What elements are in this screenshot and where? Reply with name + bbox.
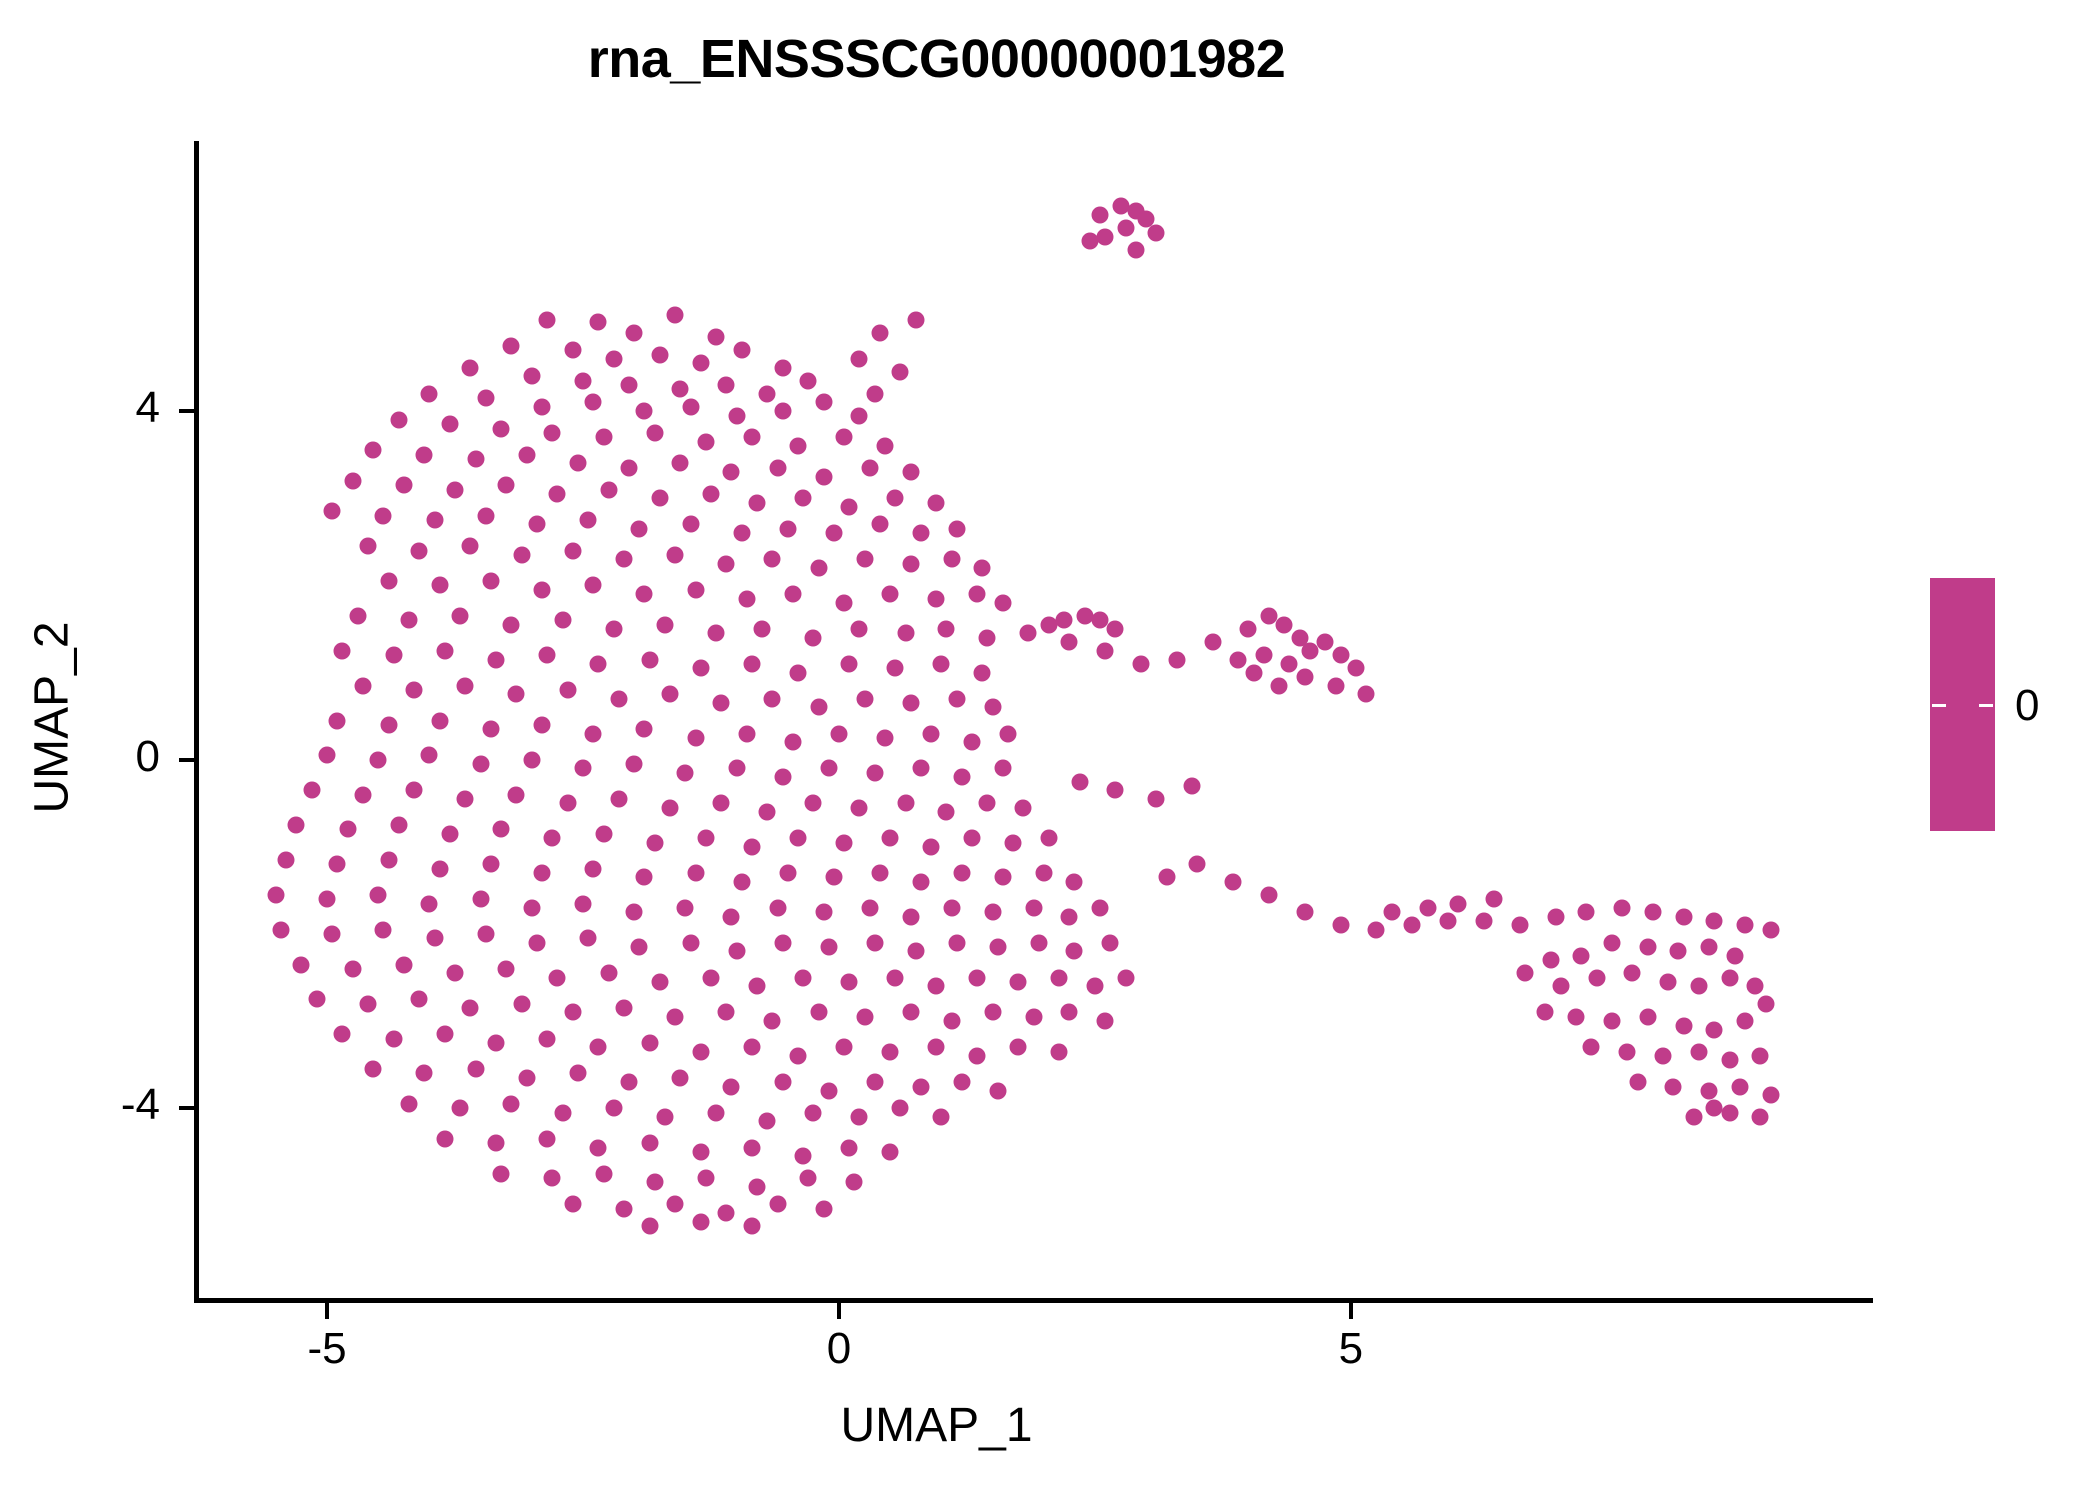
scatter-point — [697, 830, 714, 847]
scatter-point — [692, 1213, 709, 1230]
scatter-point — [851, 1109, 868, 1126]
scatter-point — [1260, 886, 1277, 903]
scatter-point — [800, 372, 817, 389]
scatter-point — [1240, 621, 1257, 638]
scatter-point — [503, 616, 520, 633]
scatter-point — [615, 1200, 632, 1217]
scatter-point — [595, 1165, 612, 1182]
scatter-point — [836, 1039, 853, 1056]
scatter-point — [682, 516, 699, 533]
scatter-point — [687, 581, 704, 598]
scatter-point — [697, 433, 714, 450]
scatter-point — [267, 886, 284, 903]
y-tick-label: -4 — [40, 1080, 160, 1130]
scatter-point — [999, 725, 1016, 742]
scatter-point — [1189, 856, 1206, 873]
scatter-point — [380, 573, 397, 590]
scatter-point — [774, 934, 791, 951]
scatter-point — [1511, 917, 1528, 934]
colorbar-tick-left — [1932, 704, 1946, 707]
scatter-point — [933, 1109, 950, 1126]
scatter-point — [590, 655, 607, 672]
scatter-point — [651, 346, 668, 363]
scatter-point — [810, 699, 827, 716]
scatter-point — [431, 577, 448, 594]
scatter-point — [1097, 1013, 1114, 1030]
scatter-point — [708, 625, 725, 642]
scatter-point — [1005, 834, 1022, 851]
scatter-point — [851, 407, 868, 424]
scatter-point — [1419, 899, 1436, 916]
scatter-point — [360, 538, 377, 555]
scatter-point — [667, 307, 684, 324]
scatter-point — [892, 1100, 909, 1117]
scatter-point — [974, 560, 991, 577]
scatter-point — [431, 860, 448, 877]
scatter-point — [569, 1065, 586, 1082]
scatter-point — [482, 573, 499, 590]
scatter-point — [815, 904, 832, 921]
scatter-point — [472, 891, 489, 908]
scatter-point — [866, 934, 883, 951]
scatter-point — [1025, 899, 1042, 916]
scatter-point — [334, 1026, 351, 1043]
scatter-point — [452, 607, 469, 624]
scatter-point — [462, 359, 479, 376]
page-title: rna_ENSSSCG00000001982 — [0, 28, 1873, 90]
scatter-point — [493, 420, 510, 437]
scatter-point — [406, 682, 423, 699]
scatter-point — [1230, 651, 1247, 668]
scatter-point — [984, 699, 1001, 716]
scatter-point — [948, 690, 965, 707]
scatter-point — [605, 350, 622, 367]
scatter-point — [662, 686, 679, 703]
scatter-point — [447, 965, 464, 982]
scatter-point — [795, 490, 812, 507]
scatter-point — [866, 764, 883, 781]
scatter-point — [503, 1095, 520, 1112]
scatter-point — [1726, 947, 1743, 964]
scatter-point — [1107, 621, 1124, 638]
scatter-point — [656, 1109, 673, 1126]
scatter-point — [1614, 899, 1631, 916]
scatter-point — [861, 899, 878, 916]
scatter-point — [866, 1074, 883, 1091]
scatter-point — [1383, 904, 1400, 921]
scatter-point — [390, 411, 407, 428]
x-tick-label: -5 — [267, 1324, 387, 1374]
scatter-point — [928, 590, 945, 607]
x-tick-mark — [325, 1303, 329, 1319]
scatter-point — [830, 725, 847, 742]
scatter-point — [1568, 1008, 1585, 1025]
scatter-point — [1184, 777, 1201, 794]
scatter-point — [1440, 912, 1457, 929]
scatter-point — [810, 560, 827, 577]
scatter-point — [1117, 220, 1134, 237]
scatter-point — [539, 311, 556, 328]
scatter-point — [1127, 241, 1144, 258]
scatter-point — [303, 782, 320, 799]
y-tick-mark — [179, 409, 194, 413]
scatter-point — [790, 830, 807, 847]
scatter-point — [600, 965, 617, 982]
scatter-point — [1675, 908, 1692, 925]
scatter-point — [590, 1139, 607, 1156]
scatter-point — [887, 660, 904, 677]
scatter-point — [1086, 978, 1103, 995]
scatter-point — [856, 1008, 873, 1025]
scatter-point — [651, 973, 668, 990]
scatter-point — [1721, 1052, 1738, 1069]
scatter-point — [902, 695, 919, 712]
scatter-point — [1117, 969, 1134, 986]
scatter-point — [912, 1078, 929, 1095]
scatter-point — [964, 734, 981, 751]
scatter-point — [467, 1061, 484, 1078]
scatter-point — [856, 690, 873, 707]
scatter-point — [805, 795, 822, 812]
scatter-point — [1721, 1104, 1738, 1121]
scatter-point — [728, 943, 745, 960]
scatter-point — [621, 1074, 638, 1091]
scatter-point — [554, 612, 571, 629]
scatter-point — [759, 804, 776, 821]
scatter-point — [641, 1034, 658, 1051]
scatter-point — [790, 1048, 807, 1065]
scatter-point — [795, 1148, 812, 1165]
scatter-point — [902, 464, 919, 481]
scatter-point — [580, 512, 597, 529]
scatter-point — [539, 1030, 556, 1047]
scatter-point — [523, 899, 540, 916]
scatter-point — [554, 1104, 571, 1121]
y-tick-mark — [179, 758, 194, 762]
scatter-point — [989, 1082, 1006, 1099]
scatter-point — [754, 621, 771, 638]
scatter-point — [836, 594, 853, 611]
scatter-point — [1102, 934, 1119, 951]
scatter-point — [841, 499, 858, 516]
scatter-point — [631, 939, 648, 956]
scatter-point — [411, 542, 428, 559]
scatter-point — [1097, 228, 1114, 245]
scatter-point — [969, 969, 986, 986]
scatter-point — [692, 660, 709, 677]
scatter-point — [820, 1082, 837, 1099]
scatter-point — [1015, 799, 1032, 816]
scatter-point — [943, 1013, 960, 1030]
legend-colorbar: 0 — [1930, 578, 2090, 898]
scatter-point — [1573, 947, 1590, 964]
scatter-point — [759, 1113, 776, 1130]
scatter-point — [774, 403, 791, 420]
scatter-point — [764, 551, 781, 568]
scatter-point — [575, 760, 592, 777]
scatter-point — [1583, 1039, 1600, 1056]
scatter-point — [324, 503, 341, 520]
scatter-point — [672, 455, 689, 472]
scatter-point — [1588, 969, 1605, 986]
scatter-point — [989, 939, 1006, 956]
scatter-point — [416, 446, 433, 463]
scatter-point — [784, 586, 801, 603]
scatter-point — [672, 1069, 689, 1086]
scatter-point — [1148, 790, 1165, 807]
scatter-point — [329, 712, 346, 729]
scatter-point — [907, 311, 924, 328]
scatter-point — [882, 586, 899, 603]
scatter-point — [882, 830, 899, 847]
scatter-point — [534, 398, 551, 415]
chart-root: rna_ENSSSCG00000001982 -404 -505 UMAP_1 … — [0, 0, 2100, 1500]
scatter-point — [641, 651, 658, 668]
scatter-point — [1731, 1078, 1748, 1095]
scatter-point — [703, 969, 720, 986]
scatter-point — [743, 838, 760, 855]
scatter-point — [651, 490, 668, 507]
scatter-point — [334, 642, 351, 659]
scatter-point — [769, 459, 786, 476]
scatter-point — [523, 751, 540, 768]
scatter-point — [882, 1143, 899, 1160]
scatter-point — [385, 1030, 402, 1047]
scatter-point — [646, 1174, 663, 1191]
scatter-point — [887, 490, 904, 507]
scatter-point — [1690, 1043, 1707, 1060]
scatter-point — [549, 485, 566, 502]
scatter-point — [882, 1043, 899, 1060]
scatter-point — [805, 629, 822, 646]
scatter-point — [580, 930, 597, 947]
scatter-point — [743, 1139, 760, 1156]
scatter-point — [585, 725, 602, 742]
scatter-point — [1537, 1004, 1554, 1021]
scatter-point — [877, 438, 894, 455]
scatter-point — [871, 324, 888, 341]
scatter-point — [708, 329, 725, 346]
scatter-point — [1624, 965, 1641, 982]
scatter-point — [1332, 647, 1349, 664]
scatter-point — [498, 960, 515, 977]
scatter-point — [1685, 1109, 1702, 1126]
scatter-point — [1639, 939, 1656, 956]
scatter-point — [1670, 943, 1687, 960]
scatter-point — [426, 512, 443, 529]
scatter-point — [1092, 899, 1109, 916]
scatter-point — [641, 1135, 658, 1152]
scatter-point — [779, 865, 796, 882]
scatter-point — [380, 716, 397, 733]
scatter-point — [631, 520, 648, 537]
scatter-point — [641, 1217, 658, 1234]
scatter-point — [1752, 1048, 1769, 1065]
scatter-point — [1260, 607, 1277, 624]
colorbar-label: 0 — [2015, 681, 2039, 731]
scatter-point — [385, 647, 402, 664]
scatter-point — [943, 551, 960, 568]
scatter-point — [585, 577, 602, 594]
scatter-point — [457, 790, 474, 807]
scatter-point — [810, 1004, 827, 1021]
scatter-points-layer — [194, 141, 1873, 1300]
scatter-point — [677, 899, 694, 916]
scatter-point — [293, 956, 310, 973]
scatter-point — [1112, 198, 1129, 215]
scatter-point — [708, 1104, 725, 1121]
scatter-point — [825, 869, 842, 886]
scatter-point — [344, 960, 361, 977]
scatter-point — [646, 424, 663, 441]
scatter-point — [370, 751, 387, 768]
scatter-point — [1347, 660, 1364, 677]
scatter-point — [534, 581, 551, 598]
scatter-point — [559, 795, 576, 812]
scatter-point — [713, 795, 730, 812]
scatter-point — [518, 1069, 535, 1086]
scatter-point — [421, 385, 438, 402]
scatter-point — [846, 1174, 863, 1191]
scatter-point — [723, 1078, 740, 1095]
scatter-point — [395, 477, 412, 494]
scatter-point — [564, 542, 581, 559]
scatter-point — [528, 516, 545, 533]
scatter-point — [324, 926, 341, 943]
scatter-point — [1276, 616, 1293, 633]
scatter-point — [877, 729, 894, 746]
scatter-point — [1066, 873, 1083, 890]
scatter-point — [590, 1039, 607, 1056]
scatter-point — [672, 381, 689, 398]
scatter-point — [1296, 668, 1313, 685]
scatter-point — [636, 869, 653, 886]
scatter-point — [1660, 973, 1677, 990]
scatter-point — [1281, 655, 1298, 672]
scatter-point — [575, 372, 592, 389]
scatter-point — [477, 926, 494, 943]
scatter-point — [851, 350, 868, 367]
scatter-point — [703, 485, 720, 502]
scatter-point — [1603, 1013, 1620, 1030]
scatter-point — [1076, 607, 1093, 624]
scatter-point — [600, 481, 617, 498]
scatter-point — [718, 1004, 735, 1021]
scatter-point — [667, 1196, 684, 1213]
scatter-point — [1040, 830, 1057, 847]
scatter-point — [621, 459, 638, 476]
scatter-point — [1035, 865, 1052, 882]
scatter-point — [887, 969, 904, 986]
scatter-point — [1158, 869, 1175, 886]
scatter-point — [636, 586, 653, 603]
scatter-point — [1081, 233, 1098, 250]
scatter-point — [615, 1000, 632, 1017]
scatter-point — [462, 538, 479, 555]
scatter-point — [851, 621, 868, 638]
scatter-point — [1317, 634, 1334, 651]
scatter-point — [1450, 895, 1467, 912]
scatter-point — [370, 886, 387, 903]
scatter-point — [354, 677, 371, 694]
scatter-point — [636, 721, 653, 738]
scatter-point — [436, 642, 453, 659]
scatter-point — [713, 695, 730, 712]
scatter-point — [621, 377, 638, 394]
scatter-point — [912, 873, 929, 890]
scatter-point — [974, 664, 991, 681]
scatter-point — [482, 721, 499, 738]
scatter-point — [841, 655, 858, 672]
scatter-point — [1301, 642, 1318, 659]
scatter-point — [984, 904, 1001, 921]
scatter-point — [779, 520, 796, 537]
scatter-point — [508, 786, 525, 803]
scatter-point — [518, 446, 535, 463]
x-tick-mark — [1349, 1303, 1353, 1319]
scatter-point — [769, 899, 786, 916]
scatter-point — [1762, 1087, 1779, 1104]
scatter-point — [928, 978, 945, 995]
scatter-point — [979, 629, 996, 646]
scatter-point — [692, 1143, 709, 1160]
scatter-point — [1327, 677, 1344, 694]
scatter-point — [488, 651, 505, 668]
scatter-point — [1296, 904, 1313, 921]
scatter-point — [1619, 1043, 1636, 1060]
scatter-point — [1542, 952, 1559, 969]
scatter-point — [626, 904, 643, 921]
scatter-point — [308, 991, 325, 1008]
scatter-point — [544, 424, 561, 441]
scatter-point — [743, 1039, 760, 1056]
scatter-point — [1629, 1074, 1646, 1091]
scatter-point — [1639, 1008, 1656, 1025]
scatter-point — [667, 546, 684, 563]
scatter-point — [1578, 904, 1595, 921]
plot-panel — [194, 141, 1873, 1300]
scatter-point — [288, 817, 305, 834]
scatter-point — [1092, 612, 1109, 629]
scatter-point — [273, 921, 290, 938]
scatter-point — [923, 725, 940, 742]
scatter-point — [1061, 634, 1078, 651]
scatter-point — [329, 856, 346, 873]
scatter-point — [728, 760, 745, 777]
scatter-point — [1368, 921, 1385, 938]
scatter-point — [912, 525, 929, 542]
scatter-point — [856, 551, 873, 568]
scatter-point — [411, 991, 428, 1008]
scatter-point — [902, 555, 919, 572]
scatter-point — [615, 551, 632, 568]
scatter-point — [472, 756, 489, 773]
scatter-point — [723, 908, 740, 925]
scatter-point — [662, 799, 679, 816]
scatter-point — [815, 1200, 832, 1217]
scatter-point — [764, 690, 781, 707]
scatter-point — [1737, 917, 1754, 934]
scatter-point — [488, 1034, 505, 1051]
scatter-point — [841, 973, 858, 990]
scatter-point — [1721, 969, 1738, 986]
scatter-point — [1010, 973, 1027, 990]
scatter-point — [790, 664, 807, 681]
scatter-point — [923, 838, 940, 855]
scatter-point — [544, 830, 561, 847]
scatter-point — [395, 956, 412, 973]
scatter-point — [687, 865, 704, 882]
